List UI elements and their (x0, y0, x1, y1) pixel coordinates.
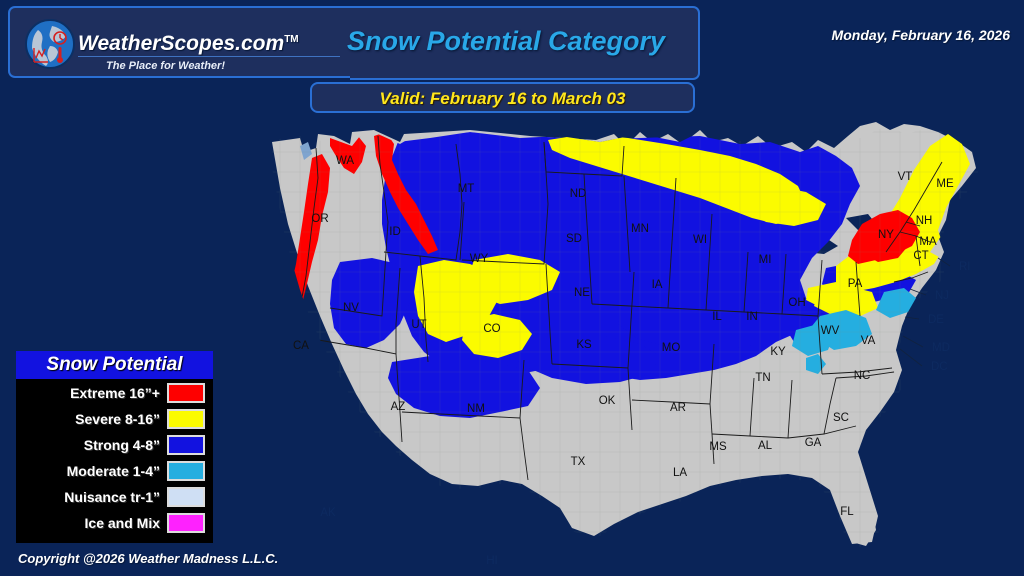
legend-box: Snow Potential Extreme 16”+Severe 8-16”S… (16, 351, 213, 543)
legend-title: Snow Potential (16, 351, 213, 379)
copyright-notice: Copyright @2026 Weather Madness L.L.C. (18, 551, 278, 566)
state-label-ky: KY (770, 346, 786, 358)
state-label-nh: NH (916, 215, 933, 227)
legend-color-swatch (167, 461, 205, 481)
state-label-al: AL (758, 440, 773, 452)
state-label-ar: AR (670, 402, 686, 414)
state-label-mt: MT (458, 183, 475, 195)
legend-item: Strong 4-8” (16, 433, 213, 457)
legend-color-swatch (167, 435, 205, 455)
legend-item-label: Moderate 1-4” (67, 463, 167, 479)
legend-item-label: Severe 8-16” (75, 411, 167, 427)
state-label-ca: CA (293, 340, 309, 352)
legend-item: Extreme 16”+ (16, 381, 213, 405)
state-label-la: LA (673, 467, 687, 479)
state-label-ri: RI (959, 261, 971, 273)
state-label-nj: NJ (935, 290, 949, 302)
state-label-sd: SD (566, 233, 582, 245)
brand-divider (78, 56, 340, 57)
state-label-mn: MN (631, 223, 649, 235)
legend-rows: Extreme 16”+Severe 8-16”Strong 4-8”Moder… (16, 381, 213, 535)
state-label-ga: GA (805, 437, 822, 449)
state-label-ma: MA (919, 236, 937, 248)
state-label-nv: NV (343, 302, 359, 314)
state-label-me: ME (936, 178, 954, 190)
state-label-fl: FL (840, 506, 854, 518)
legend-item-label: Extreme 16”+ (70, 385, 167, 401)
valid-period-label: Valid: February 16 to March 03 (312, 89, 693, 109)
legend-color-swatch (167, 409, 205, 429)
state-label-ak: AK (320, 507, 336, 519)
state-label-wa: WA (336, 155, 354, 167)
state-label-id: ID (389, 226, 401, 238)
state-label-ms: MS (709, 441, 727, 453)
date-label: Monday, February 16, 2026 (832, 27, 1010, 43)
legend-color-swatch (167, 487, 205, 507)
state-label-nm: NM (467, 403, 485, 415)
state-label-wy: WY (470, 253, 489, 265)
state-label-pa: PA (848, 278, 863, 290)
state-label-or: OR (311, 213, 328, 225)
legend-item: Nuisance tr-1” (16, 485, 213, 509)
brand-name-text: WeatherScopes.com (78, 32, 284, 55)
weather-map-graphic: WAORCANVIDMTWYUTCOAZNMNDSDNEKSOKTXMNIAMO… (0, 0, 1024, 576)
state-label-sc: SC (833, 412, 849, 424)
brand-name: WeatherScopes.comTM (78, 32, 299, 56)
state-label-mi: MI (759, 254, 772, 266)
state-label-ia: IA (652, 279, 663, 291)
state-label-de: DE (928, 314, 944, 326)
state-label-az: AZ (391, 401, 406, 413)
legend-color-swatch (167, 513, 205, 533)
state-label-hi: HI (486, 555, 498, 567)
state-label-wv: WV (821, 325, 840, 337)
state-label-tn: TN (755, 372, 770, 384)
state-label-vt: VT (898, 171, 913, 183)
state-label-nc: NC (854, 370, 871, 382)
state-label-ut: UT (411, 319, 426, 331)
state-label-mo: MO (662, 342, 681, 354)
globe-weather-logo-icon (24, 18, 76, 70)
state-label-dc: DC (931, 361, 948, 373)
state-label-co: CO (483, 323, 500, 335)
legend-item-label: Nuisance tr-1” (64, 489, 167, 505)
state-label-ne: NE (574, 287, 590, 299)
legend-item: Severe 8-16” (16, 407, 213, 431)
state-label-il: IL (712, 311, 722, 323)
state-label-ok: OK (599, 395, 616, 407)
state-label-wi: WI (693, 234, 707, 246)
legend-item: Ice and Mix (16, 511, 213, 535)
legend-color-swatch (167, 383, 205, 403)
state-label-in: IN (746, 311, 758, 323)
state-label-ny: NY (878, 229, 894, 241)
state-label-nd: ND (570, 188, 587, 200)
legend-item: Moderate 1-4” (16, 459, 213, 483)
trademark-symbol: TM (284, 34, 298, 45)
state-label-ks: KS (576, 339, 592, 351)
legend-item-label: Ice and Mix (85, 515, 167, 531)
state-label-tx: TX (571, 456, 586, 468)
brand-tagline: The Place for Weather! (106, 60, 225, 72)
logo-panel: WeatherScopes.comTM The Place for Weathe… (8, 6, 352, 78)
state-label-oh: OH (788, 297, 805, 309)
state-label-ct: CT (913, 250, 928, 262)
state-label-va: VA (861, 335, 876, 347)
state-label-md: MD (932, 342, 950, 354)
page-title: Snow Potential Category (312, 26, 700, 57)
valid-period-panel: Valid: February 16 to March 03 (310, 82, 695, 113)
legend-item-label: Strong 4-8” (84, 437, 167, 453)
